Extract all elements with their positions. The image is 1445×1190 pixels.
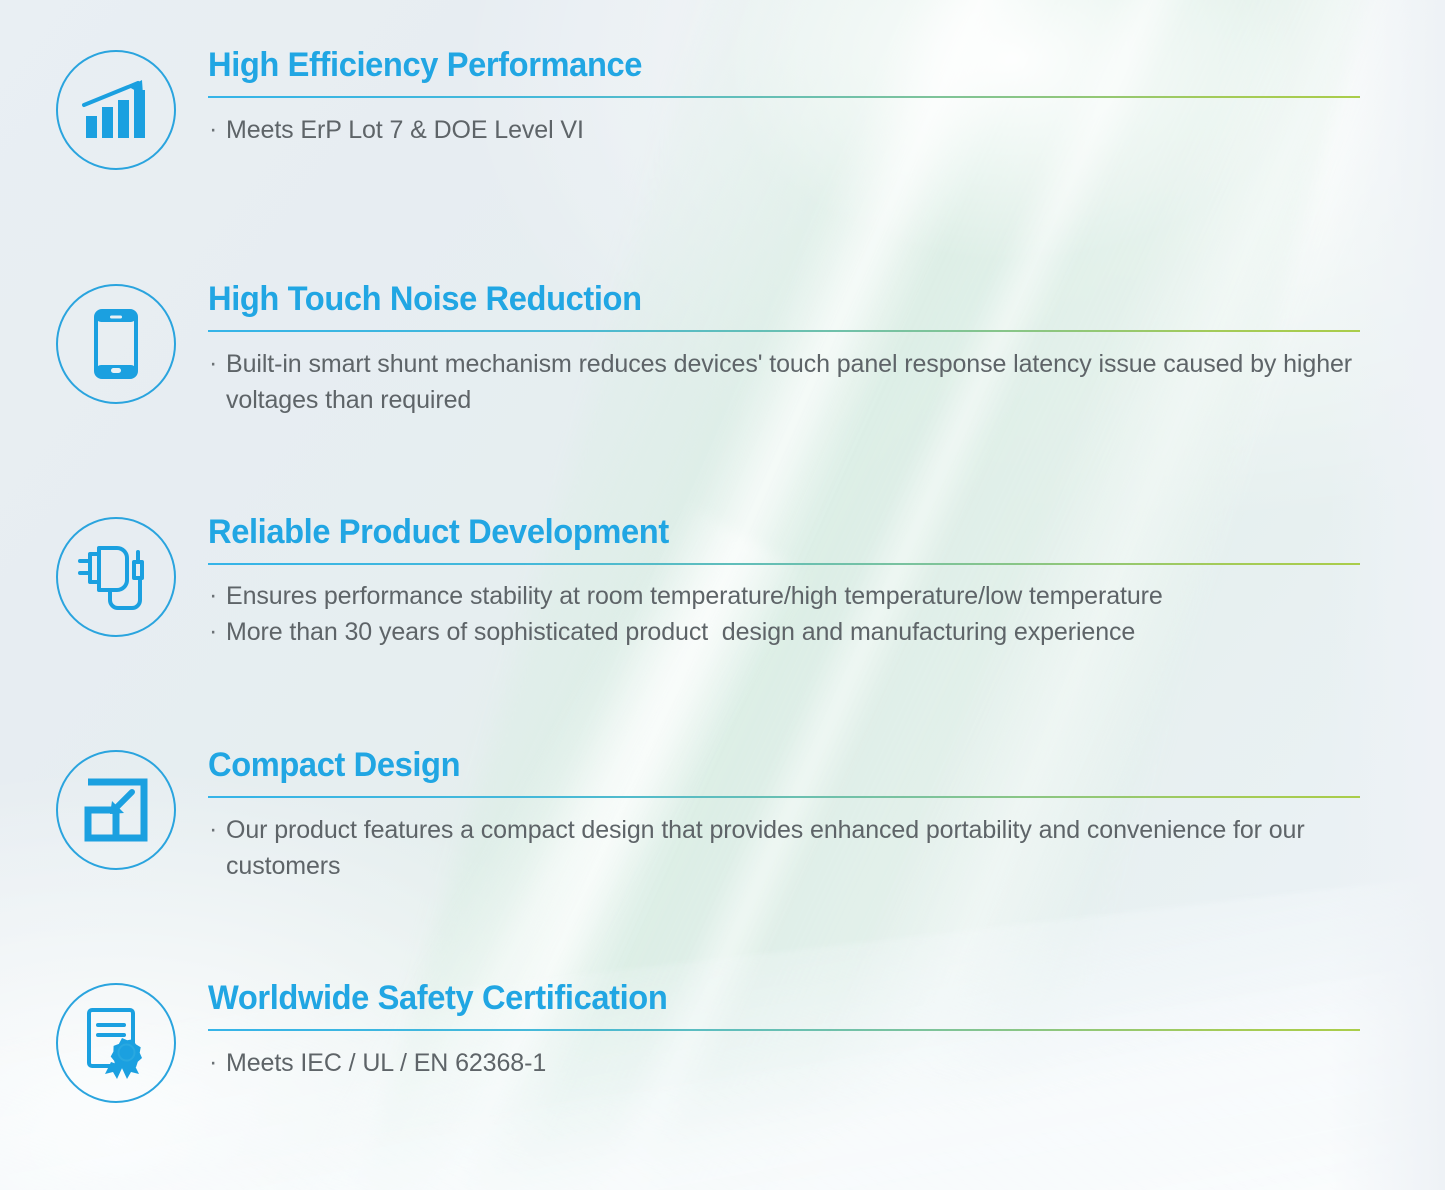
feature-divider <box>208 796 1360 798</box>
feature-title: Worldwide Safety Certification <box>208 981 1323 1017</box>
feature-icon-wrap <box>54 748 178 872</box>
feature-divider <box>208 1029 1360 1031</box>
feature-title: Reliable Product Development <box>208 515 1323 551</box>
feature-body: High Touch Noise Reduction Built-in smar… <box>178 282 1369 418</box>
power-adapter-icon <box>56 517 176 637</box>
feature-bullet: Built-in smart shunt mechanism reduces d… <box>208 346 1369 419</box>
feature-title: Compact Design <box>208 748 1323 784</box>
compact-resize-icon <box>56 750 176 870</box>
feature-title: High Touch Noise Reduction <box>208 282 1323 318</box>
feature-bullet: More than 30 years of sophisticated prod… <box>208 614 1369 650</box>
bar-chart-growth-icon <box>56 50 176 170</box>
feature-item-compact-design: Compact Design Our product features a co… <box>54 748 1369 884</box>
feature-bullets: Meets IEC / UL / EN 62368-1 <box>208 1045 1369 1081</box>
feature-body: Reliable Product Development Ensures per… <box>178 515 1369 650</box>
feature-icon-wrap <box>54 48 178 172</box>
feature-bullets: Meets ErP Lot 7 & DOE Level VI <box>208 112 1369 148</box>
feature-bullets: Our product features a compact design th… <box>208 812 1369 885</box>
smartphone-icon <box>56 284 176 404</box>
feature-bullet: Meets ErP Lot 7 & DOE Level VI <box>208 112 1369 148</box>
feature-item-high-efficiency-performance: High Efficiency Performance Meets ErP Lo… <box>54 48 1369 172</box>
feature-item-worldwide-safety-certification: Worldwide Safety Certification Meets IEC… <box>54 981 1369 1105</box>
feature-title: High Efficiency Performance <box>208 48 1323 84</box>
feature-bullets: Ensures performance stability at room te… <box>208 578 1369 651</box>
feature-divider <box>208 563 1360 565</box>
feature-bullets: Built-in smart shunt mechanism reduces d… <box>208 346 1369 419</box>
feature-highlights-page: High Efficiency Performance Meets ErP Lo… <box>0 0 1445 1190</box>
feature-icon-wrap <box>54 282 178 406</box>
feature-body: Worldwide Safety Certification Meets IEC… <box>178 981 1369 1081</box>
feature-icon-wrap <box>54 515 178 639</box>
certificate-award-icon <box>56 983 176 1103</box>
feature-bullet: Ensures performance stability at room te… <box>208 578 1369 614</box>
feature-icon-wrap <box>54 981 178 1105</box>
feature-divider <box>208 330 1360 332</box>
feature-bullet: Meets IEC / UL / EN 62368-1 <box>208 1045 1369 1081</box>
feature-body: High Efficiency Performance Meets ErP Lo… <box>178 48 1369 148</box>
feature-bullet: Our product features a compact design th… <box>208 812 1369 885</box>
feature-body: Compact Design Our product features a co… <box>178 748 1369 884</box>
feature-item-reliable-product-development: Reliable Product Development Ensures per… <box>54 515 1369 650</box>
feature-item-high-touch-noise-reduction: High Touch Noise Reduction Built-in smar… <box>54 282 1369 418</box>
feature-divider <box>208 96 1360 98</box>
